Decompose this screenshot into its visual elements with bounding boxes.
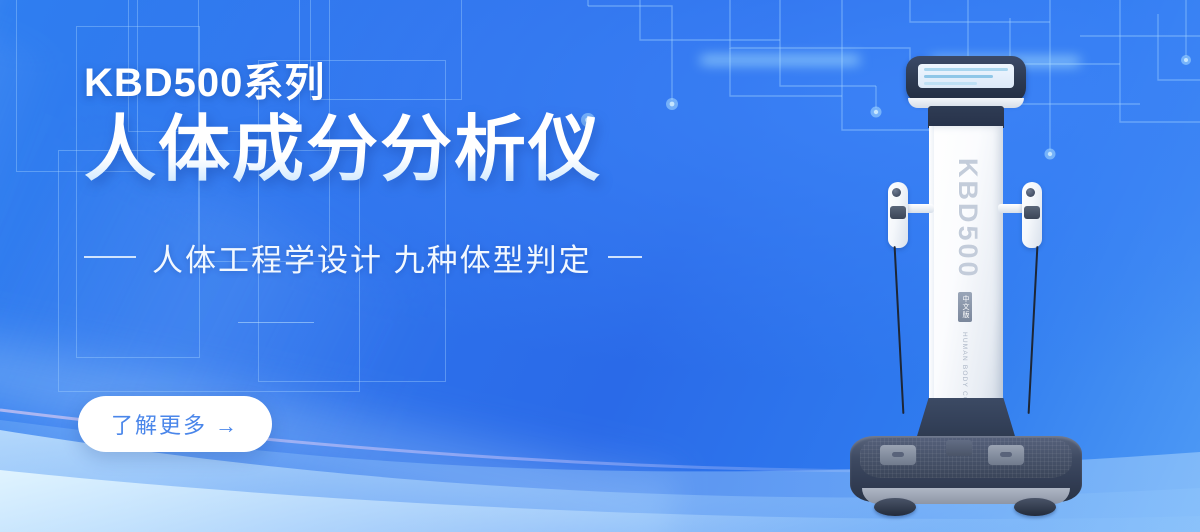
base-foot-left (874, 498, 916, 516)
device-badge: 中文版 (958, 292, 972, 322)
product-image-body-composition-analyzer: KBD500 中文版 HUMAN BODY COMPOSITION ANALYZ… (836, 40, 1096, 520)
device-neck (928, 106, 1004, 128)
device-display-head (906, 56, 1026, 102)
foot-electrode-right (988, 445, 1024, 465)
light-streak (0, 0, 19, 532)
base-foot-right (1014, 498, 1056, 516)
outline-accent-line (238, 322, 314, 323)
device-screen (918, 64, 1014, 88)
light-streak (0, 0, 62, 532)
page-title: 人体成分分析仪 (84, 110, 704, 191)
screen-line (924, 82, 977, 85)
product-hero-banner: KBD500系列 人体成分分析仪 人体工程学设计 九种体型判定 了解更多 → K… (0, 0, 1200, 532)
learn-more-label: 了解更多 → (111, 408, 239, 440)
eyebrow-title: KBD500系列 (84, 62, 704, 104)
device-brand-text: KBD500 (952, 158, 983, 280)
dash-right-icon (608, 256, 642, 258)
learn-more-button[interactable]: 了解更多 → (78, 396, 272, 452)
cable-right (1028, 246, 1039, 414)
hero-copy-block: KBD500系列 人体成分分析仪 人体工程学设计 九种体型判定 (84, 62, 704, 280)
grip-band-left (890, 206, 906, 219)
foot-electrode-left (880, 445, 916, 465)
grip-band-right (1024, 206, 1040, 219)
base-center-panel (946, 440, 972, 456)
subtitle-row: 人体工程学设计 九种体型判定 (84, 235, 704, 280)
cable-left (894, 246, 905, 414)
dash-left-icon (84, 256, 136, 258)
hero-subtitle: 人体工程学设计 九种体型判定 (152, 235, 592, 280)
screen-line (924, 68, 1008, 71)
device-column-edge (929, 126, 934, 426)
screen-line (924, 75, 993, 78)
